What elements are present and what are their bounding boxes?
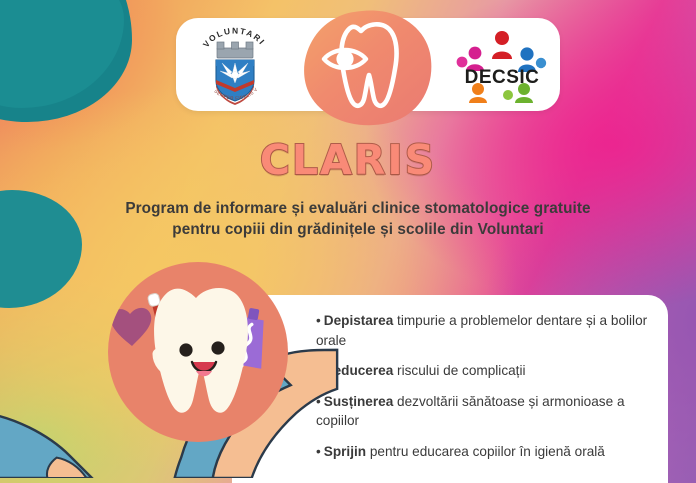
bullet-marker: • bbox=[316, 313, 321, 328]
page-title: CLARIS bbox=[0, 136, 696, 184]
list-item: •Reducerea riscului de complicații bbox=[316, 361, 668, 381]
subtitle-line-2: pentru copiii din grădinițele și scolile… bbox=[60, 219, 656, 240]
voluntari-coat-of-arms-icon: VOLUNTARI bbox=[198, 25, 272, 105]
smiling-tooth-mascot-icon bbox=[108, 262, 288, 442]
benefits-list: •Depistarea timpurie a problemelor denta… bbox=[316, 311, 668, 472]
decsic-icon: DECSIC bbox=[456, 29, 548, 101]
decsic-wordmark: DECSIC bbox=[456, 67, 548, 89]
list-item: •Depistarea timpurie a problemelor denta… bbox=[316, 311, 668, 350]
subtitle-line-1: Program de informare și evaluări clinice… bbox=[125, 200, 590, 217]
subtitle: Program de informare și evaluări clinice… bbox=[60, 198, 656, 240]
decsic-logo-slot: DECSIC bbox=[444, 18, 560, 111]
list-item: •Sprijin pentru educarea copiilor în igi… bbox=[316, 442, 668, 462]
logo-card: VOLUNTARI bbox=[176, 18, 560, 111]
poster-root: VOLUNTARI bbox=[0, 0, 696, 483]
list-item: •Susținerea dezvoltării sănătoase și arm… bbox=[316, 392, 668, 431]
claris-mark-slot bbox=[294, 18, 444, 111]
voluntari-logo-slot: VOLUNTARI bbox=[176, 18, 294, 111]
mascot-badge bbox=[108, 262, 288, 442]
claris-tooth-eye-icon bbox=[298, 9, 440, 127]
list-item-text: pentru educarea copiilor în igienă orală bbox=[366, 444, 605, 459]
list-item-text: riscului de complicații bbox=[393, 363, 525, 378]
list-item-keyword: Depistarea bbox=[324, 313, 394, 328]
